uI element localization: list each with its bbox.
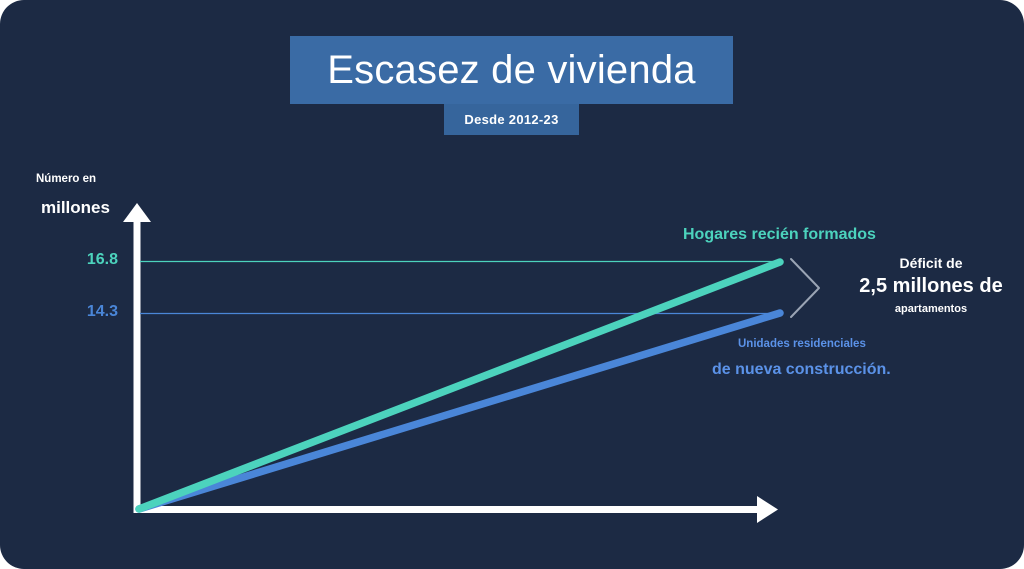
series-line-new-construction <box>139 313 780 509</box>
series-line-new-households <box>139 262 780 509</box>
deficit-callout-line-2: 2,5 millones de <box>838 273 1024 299</box>
deficit-callout-line-3: apartamentos <box>838 299 1024 319</box>
deficit-bracket-icon <box>791 259 819 317</box>
series-label-new-construction-line-1: Unidades residenciales <box>738 338 866 350</box>
series-label-new-construction-line-2: de nueva construcción. <box>712 361 891 379</box>
deficit-callout-line-1: Déficit de <box>838 253 1024 273</box>
y-axis-line <box>134 215 141 513</box>
infographic-canvas: Escasez de vivienda Desde 2012-23 Número… <box>0 0 1024 569</box>
series-label-new-households: Hogares recién formados <box>683 226 876 244</box>
x-axis-arrowhead <box>757 496 778 523</box>
y-axis-arrowhead <box>123 203 151 222</box>
x-axis-line <box>134 506 764 513</box>
deficit-callout: Déficit de 2,5 millones de apartamentos <box>838 253 1024 319</box>
